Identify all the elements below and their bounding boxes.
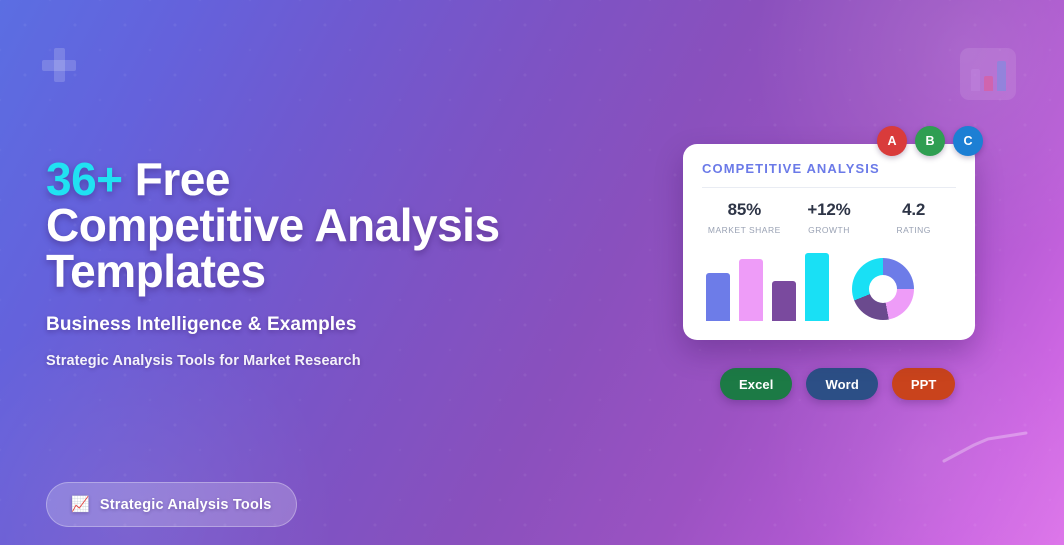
donut-chart-hole bbox=[869, 275, 897, 303]
stats-row: 85% MARKET SHARE +12% GROWTH 4.2 RATING bbox=[702, 200, 956, 235]
stat-market-share: 85% MARKET SHARE bbox=[702, 200, 787, 235]
competitive-analysis-card[interactable]: COMPETITIVE ANALYSIS 85% MARKET SHARE +1… bbox=[683, 144, 975, 340]
page-title: 36+ FreeCompetitive AnalysisTemplates bbox=[46, 156, 626, 294]
stat-rating-label: RATING bbox=[871, 225, 956, 235]
excel-button-label: Excel bbox=[739, 377, 773, 392]
chart-increasing-icon: 📈 bbox=[71, 497, 90, 512]
avatar-a[interactable]: A bbox=[877, 126, 907, 156]
headline-line2: Competitive Analysis bbox=[46, 202, 626, 248]
template-count: 36+ bbox=[46, 153, 123, 205]
bar-4 bbox=[805, 253, 829, 321]
bar-chart-icon-bar-3 bbox=[997, 61, 1006, 91]
word-button-label: Word bbox=[825, 377, 858, 392]
stat-market-share-label: MARKET SHARE bbox=[702, 225, 787, 235]
analysis-card-wrapper: A B C COMPETITIVE ANALYSIS 85% MARKET SH… bbox=[683, 144, 975, 340]
avatar-b[interactable]: B bbox=[915, 126, 945, 156]
avatar-c[interactable]: C bbox=[953, 126, 983, 156]
stat-rating-value: 4.2 bbox=[871, 200, 956, 220]
avatar-a-letter: A bbox=[887, 134, 896, 148]
stat-growth-label: GROWTH bbox=[787, 225, 872, 235]
bar-3 bbox=[772, 281, 796, 321]
bar-1 bbox=[706, 273, 730, 321]
headline-line3: Templates bbox=[46, 248, 626, 294]
avatar-c-letter: C bbox=[963, 134, 972, 148]
bar-chart-icon bbox=[960, 48, 1016, 100]
donut-chart bbox=[852, 258, 914, 320]
stat-growth: +12% GROWTH bbox=[787, 200, 872, 235]
card-visualizations bbox=[702, 249, 956, 321]
bar-chart-icon-bar-1 bbox=[971, 69, 980, 91]
avatar-b-letter: B bbox=[925, 134, 934, 148]
bar-2 bbox=[739, 259, 763, 321]
badge-label: Strategic Analysis Tools bbox=[100, 497, 272, 513]
headline-line1-rest: Free bbox=[123, 153, 230, 205]
plus-icon bbox=[42, 48, 76, 82]
word-button[interactable]: Word bbox=[806, 368, 877, 400]
card-title: COMPETITIVE ANALYSIS bbox=[702, 161, 956, 176]
excel-button[interactable]: Excel bbox=[720, 368, 792, 400]
hero-subtitle: Business Intelligence & Examples bbox=[46, 314, 626, 336]
hero-banner: 36+ FreeCompetitive AnalysisTemplates Bu… bbox=[0, 0, 1064, 545]
strategic-analysis-tools-badge[interactable]: 📈 Strategic Analysis Tools bbox=[46, 482, 297, 527]
bar-chart-icon-bar-2 bbox=[984, 76, 993, 91]
hero-tagline: Strategic Analysis Tools for Market Rese… bbox=[46, 353, 626, 369]
ppt-button[interactable]: PPT bbox=[892, 368, 956, 400]
background-glow-bottom-right bbox=[744, 305, 1064, 545]
stat-rating: 4.2 RATING bbox=[871, 200, 956, 235]
ppt-button-label: PPT bbox=[911, 377, 937, 392]
format-buttons: Excel Word PPT bbox=[720, 368, 955, 400]
hero-text-block: 36+ FreeCompetitive AnalysisTemplates Bu… bbox=[46, 156, 626, 369]
avatar-group: A B C bbox=[877, 126, 983, 156]
stat-growth-value: +12% bbox=[787, 200, 872, 220]
card-divider bbox=[702, 187, 956, 188]
stat-market-share-value: 85% bbox=[702, 200, 787, 220]
